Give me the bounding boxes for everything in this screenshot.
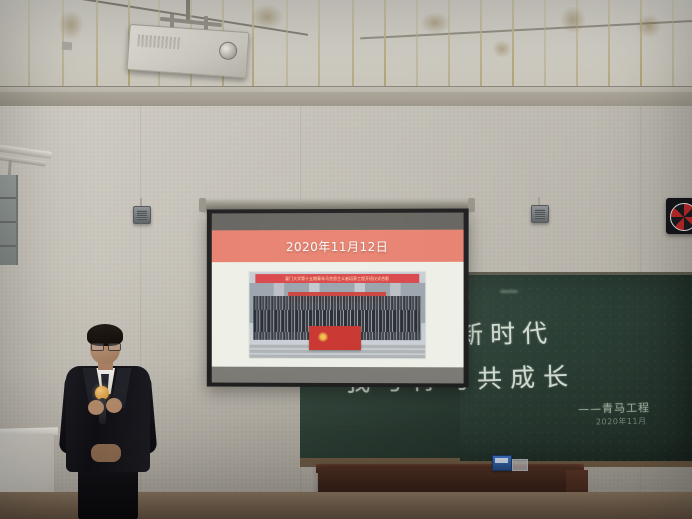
presenter-legs: [78, 464, 138, 519]
wall-speaker-right: [531, 205, 549, 223]
ceiling-water-stain: [560, 6, 586, 34]
photo-red-flag: [309, 326, 361, 350]
ceiling-panel-seam: [640, 0, 642, 92]
ceiling-water-stain: [492, 40, 512, 58]
ceiling: [0, 0, 692, 92]
ceiling-water-stain: [420, 12, 450, 34]
wall-clock: [666, 198, 692, 234]
ceiling-panel-seam: [544, 0, 546, 92]
ceiling-panel-seam: [608, 0, 610, 92]
projector-foot: [62, 42, 73, 51]
ceiling-panel-seam: [448, 0, 450, 92]
slide-date-text: 2020年11月12日: [286, 237, 389, 254]
blackboard-signature-date: 2020年11月: [596, 416, 647, 428]
presenter-clasped-hands: [91, 444, 121, 462]
blue-box-item[interactable]: [492, 455, 512, 471]
ceiling-panel-seam: [384, 0, 386, 92]
ceiling-panel-seam: [416, 0, 418, 92]
ceiling-panel-seam: [480, 0, 482, 92]
presenter-hand-right: [106, 398, 122, 413]
chalk-smudge: [500, 290, 518, 293]
presentation-slide: 2020年11月12日 厦门大学第十五期青年马克思主义者培养工程开班仪式合影: [212, 230, 464, 368]
ceiling-water-stain: [250, 4, 284, 30]
photo-banner-text: 厦门大学第十五期青年马克思主义者培养工程开班仪式合影: [285, 275, 389, 281]
slide-group-photo: 厦门大学第十五期青年马克思主义者培养工程开班仪式合影: [248, 271, 426, 359]
projection-letterbox-bottom: [212, 367, 464, 384]
projection-screen-surface: 2020年11月12日 厦门大学第十五期青年马克思主义者培养工程开班仪式合影: [212, 213, 464, 384]
ceiling-panel-seam: [96, 0, 98, 92]
glasses-icon: [91, 343, 119, 349]
projection-screen[interactable]: 2020年11月12日 厦门大学第十五期青年马克思主义者培养工程开班仪式合影: [207, 208, 469, 387]
photo-banner: 厦门大学第十五期青年马克思主义者培养工程开班仪式合影: [255, 274, 419, 283]
ceiling-panel-seam: [672, 0, 674, 92]
blackboard-signature: ——青马工程: [578, 399, 650, 416]
ceiling-panel-seam: [512, 0, 514, 92]
ceiling-panel-seam: [28, 0, 30, 92]
wall-speaker-left: [133, 206, 151, 224]
speaker-right-stem: [538, 197, 540, 205]
ceiling-panel-seam: [286, 0, 288, 92]
projector-vent: [137, 34, 182, 49]
clear-box-item[interactable]: [512, 459, 528, 471]
beam-highlight: [0, 87, 692, 92]
presenter-hand-left: [88, 400, 104, 415]
presenter: [58, 312, 166, 519]
ceiling-panel-seam: [318, 0, 320, 92]
screen-roller-bracket-left: [199, 198, 206, 212]
window-edge: [0, 175, 18, 265]
classroom-photo: 青春建功新时代 我与青马共成长 ——青马工程 2020年11月 2020年11月…: [0, 0, 692, 519]
screen-roller-bracket-right: [468, 198, 475, 212]
projector-lens: [219, 41, 238, 60]
ceiling-panel-seam: [352, 0, 354, 92]
ceiling-water-stain: [58, 10, 84, 40]
ceiling-water-stain: [636, 14, 662, 38]
projector: [127, 24, 250, 78]
slide-date-banner: 2020年11月12日: [212, 230, 464, 263]
projection-letterbox-top: [212, 213, 464, 231]
speaker-left-stem: [140, 198, 142, 206]
